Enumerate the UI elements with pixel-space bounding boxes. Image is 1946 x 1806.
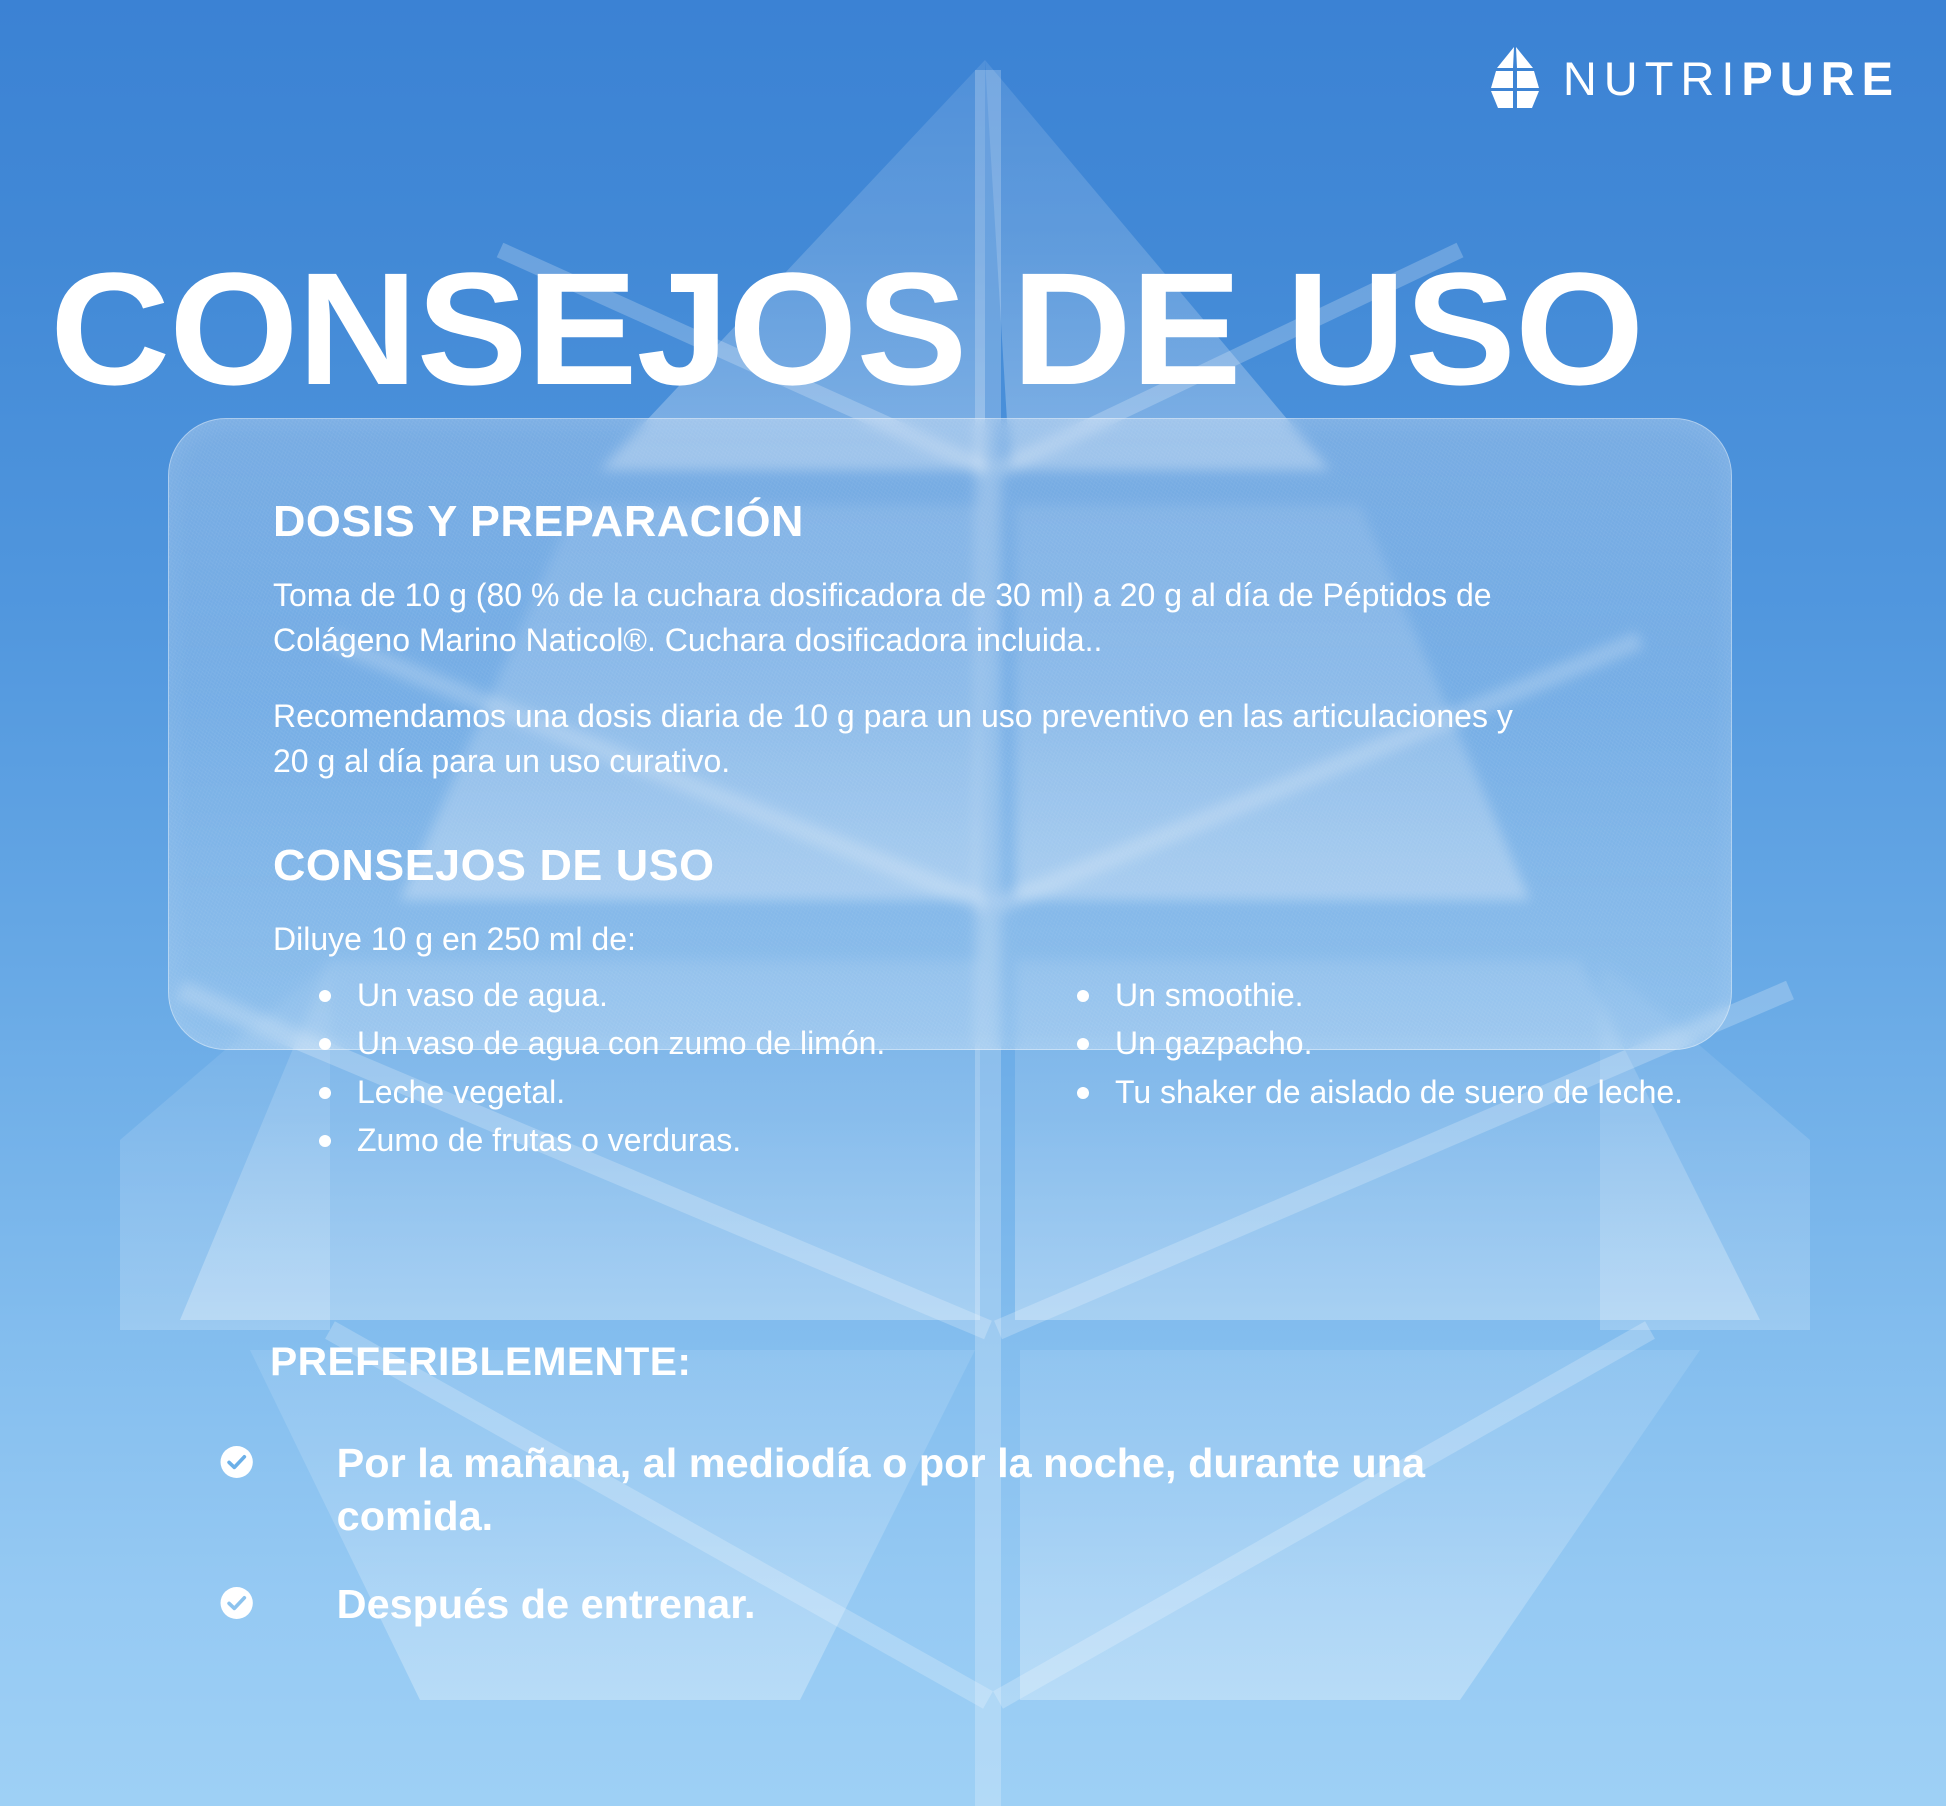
usage-lead: Diluye 10 g en 250 ml de: <box>273 917 1523 962</box>
usage-list-left-column: Un vaso de agua. Un vaso de agua con zum… <box>273 974 957 1167</box>
brand-logo: NUTRIPURE <box>1487 46 1900 110</box>
list-item: Un vaso de agua. <box>317 974 957 1016</box>
usage-list-right: Un smoothie. Un gazpacho. Tu shaker de a… <box>1075 974 1695 1113</box>
usage-heading: CONSEJOS DE USO <box>273 841 1666 891</box>
check-circle-icon <box>220 1445 254 1479</box>
page-title: CONSEJOS DE USO <box>50 247 1946 410</box>
list-item: Tu shaker de aislado de suero de leche. <box>1075 1071 1695 1113</box>
check-circle-icon <box>220 1586 254 1620</box>
brand-name-light: NUTRI <box>1563 55 1742 102</box>
usage-lists: Un vaso de agua. Un vaso de agua con zum… <box>273 974 1639 1167</box>
preferably-item-label: Después de entrenar. <box>337 1581 756 1627</box>
dosage-paragraph-2: Recomendamos una dosis diaria de 10 g pa… <box>273 694 1523 785</box>
preferably-item: Por la mañana, al mediodía o por la noch… <box>270 1437 1528 1544</box>
bullet-dot-icon <box>1077 1038 1089 1050</box>
brand-wordmark: NUTRIPURE <box>1563 55 1900 102</box>
bullet-dot-icon <box>1077 1087 1089 1099</box>
poster-root: NUTRIPURE CONSEJOS DE USO DOSIS Y PREPAR… <box>0 0 1946 1806</box>
list-item-label: Un smoothie. <box>1115 977 1304 1013</box>
list-item-label: Un gazpacho. <box>1115 1025 1312 1061</box>
usage-list-left: Un vaso de agua. Un vaso de agua con zum… <box>317 974 957 1161</box>
dosage-paragraph-1: Toma de 10 g (80 % de la cuchara dosific… <box>273 573 1523 664</box>
preferably-item: Después de entrenar. <box>270 1578 1528 1631</box>
list-item: Leche vegetal. <box>317 1071 957 1113</box>
bullet-dot-icon <box>319 990 331 1002</box>
bullet-dot-icon <box>319 1038 331 1050</box>
dosage-heading: DOSIS Y PREPARACIÓN <box>273 497 1666 547</box>
list-item: Un vaso de agua con zumo de limón. <box>317 1022 957 1064</box>
list-item-label: Tu shaker de aislado de suero de leche. <box>1115 1074 1683 1110</box>
usage-list-right-column: Un smoothie. Un gazpacho. Tu shaker de a… <box>1049 974 1695 1167</box>
bullet-dot-icon <box>1077 990 1089 1002</box>
list-item: Un gazpacho. <box>1075 1022 1695 1064</box>
list-item-label: Zumo de frutas o verduras. <box>357 1122 741 1158</box>
preferably-list: Por la mañana, al mediodía o por la noch… <box>270 1437 1670 1631</box>
bullet-dot-icon <box>319 1135 331 1147</box>
brand-name-bold: PURE <box>1741 55 1900 102</box>
preferably-section: PREFERIBLEMENTE: Por la mañana, al medio… <box>270 1340 1670 1631</box>
list-item-label: Leche vegetal. <box>357 1074 565 1110</box>
preferably-item-label: Por la mañana, al mediodía o por la noch… <box>337 1440 1425 1539</box>
instructions-card: DOSIS Y PREPARACIÓN Toma de 10 g (80 % d… <box>168 418 1732 1050</box>
bullet-dot-icon <box>319 1087 331 1099</box>
list-item: Un smoothie. <box>1075 974 1695 1016</box>
list-item-label: Un vaso de agua con zumo de limón. <box>357 1025 885 1061</box>
list-item: Zumo de frutas o verduras. <box>317 1119 957 1161</box>
list-item-label: Un vaso de agua. <box>357 977 608 1013</box>
leaf-icon <box>1487 46 1541 110</box>
preferably-heading: PREFERIBLEMENTE: <box>270 1340 1698 1385</box>
